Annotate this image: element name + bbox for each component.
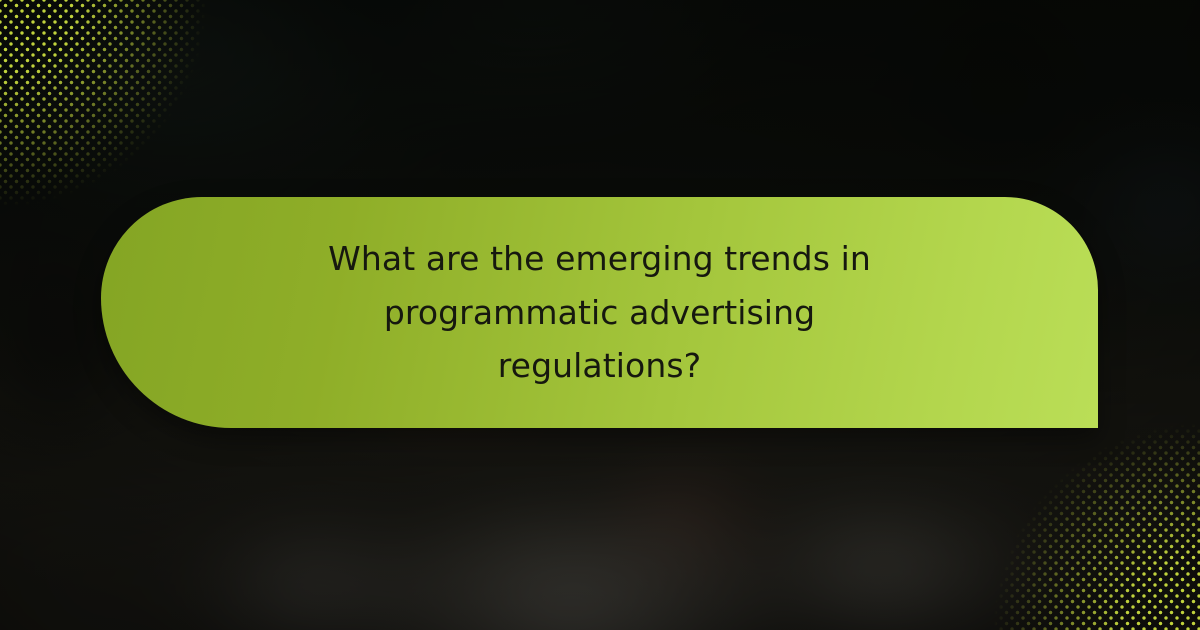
quote-card: What are the emerging trends in programm…	[101, 197, 1098, 428]
screenshot-canvas: What are the emerging trends in programm…	[0, 0, 1200, 630]
page-title: What are the emerging trends in programm…	[280, 232, 920, 393]
halftone-dots-bottom-right-icon	[968, 398, 1200, 630]
